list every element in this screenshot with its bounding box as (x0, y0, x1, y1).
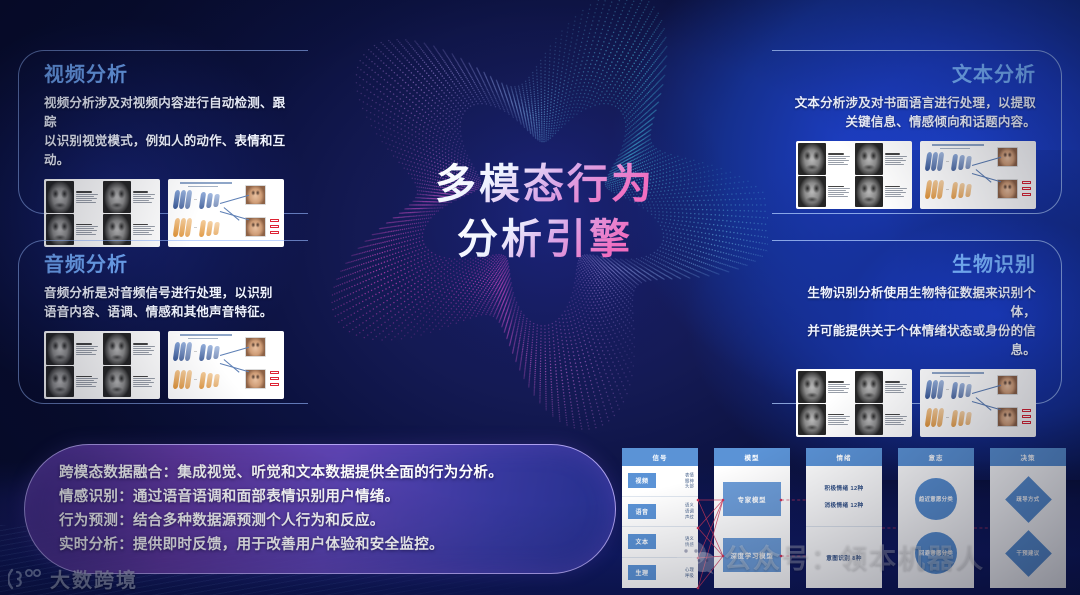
card-thumbnails: ...... (44, 179, 288, 247)
card-description-line1: 音频分析是对音频信号进行处理，以识别 (44, 284, 288, 303)
brand-logo[interactable]: 大数跨境 (8, 564, 138, 593)
card-description: 视频分析涉及对视频内容进行自动检测、跟踪 以识别视觉模式，例如人的动作、表情和互… (44, 94, 288, 170)
network-diagram-thumbnail[interactable]: ...... (168, 331, 284, 399)
card-description-line2: 关键信息、情感倾向和话题内容。 (792, 113, 1036, 132)
card-description-line1: 视频分析涉及对视频内容进行自动检测、跟踪 (44, 94, 288, 132)
card-description-line2: 并可能提供关于个体情绪状态或身份的信息。 (792, 322, 1036, 360)
summary-line: 情感识别：通过语音语调和面部表情识别用户情绪。 (59, 486, 585, 508)
card-description-line1: 生物识别分析使用生物特征数据来识别个体， (792, 284, 1036, 322)
card-thumbnails: ...... (792, 141, 1036, 209)
card-biometric-recognition[interactable]: 生物识别 生物识别分析使用生物特征数据来识别个体， 并可能提供关于个体情绪状态或… (772, 240, 1062, 404)
summary-line: 跨模态数据融合：集成视觉、听觉和文本数据提供全面的行为分析。 (59, 462, 585, 484)
card-description: 文本分析涉及对书面语言进行处理，以提取 关键信息、情感倾向和话题内容。 (792, 94, 1036, 132)
network-diagram-thumbnail[interactable]: ...... (168, 179, 284, 247)
pipeline-flowchart: 信号 视频 表情 眼神 头部 语音 语义 语调 声纹 (622, 448, 1068, 588)
face-grid-thumbnail[interactable] (796, 369, 912, 437)
center-title-line1: 多模态行为 (435, 161, 655, 207)
card-description-line2: 语音内容、语调、情感和其他声音特征。 (44, 303, 288, 322)
summary-line: 行为预测：结合多种数据源预测个人行为和反应。 (59, 510, 585, 532)
face-grid-thumbnail[interactable] (44, 179, 160, 247)
card-video-analysis[interactable]: 视频分析 视频分析涉及对视频内容进行自动检测、跟踪 以识别视觉模式，例如人的动作… (18, 50, 308, 214)
face-grid-thumbnail[interactable] (796, 141, 912, 209)
card-title: 视频分析 (44, 64, 288, 87)
card-thumbnails: ...... (44, 331, 288, 399)
card-audio-analysis[interactable]: 音频分析 音频分析是对音频信号进行处理，以识别 语音内容、语调、情感和其他声音特… (18, 240, 308, 404)
network-diagram-thumbnail[interactable]: ...... (920, 369, 1036, 437)
card-thumbnails: ...... (792, 369, 1036, 437)
card-title: 文本分析 (792, 64, 1036, 87)
brand-mark-icon (8, 567, 44, 591)
card-description: 生物识别分析使用生物特征数据来识别个体， 并可能提供关于个体情绪状态或身份的信息… (792, 284, 1036, 360)
card-description-line2: 以识别视觉模式，例如人的动作、表情和互动。 (44, 132, 288, 170)
card-title: 音频分析 (44, 254, 288, 277)
card-text-analysis[interactable]: 文本分析 文本分析涉及对书面语言进行处理，以提取 关键信息、情感倾向和话题内容。… (772, 50, 1062, 214)
center-title-line2: 分析引擎 (457, 216, 633, 262)
center-title-group: 多模态行为 分析引擎 (350, 150, 740, 270)
card-description-line1: 文本分析涉及对书面语言进行处理，以提取 (792, 94, 1036, 113)
poster-canvas: 多模态行为 分析引擎 视频分析 视频分析涉及对视频内容进行自动检测、跟踪 以识别… (0, 0, 1080, 595)
card-title: 生物识别 (792, 254, 1036, 277)
summary-line: 实时分析：提供即时反馈，用于改善用户体验和安全监控。 (59, 534, 585, 556)
flow-connectors (622, 448, 1068, 588)
brand-logo-text: 大数跨境 (50, 564, 138, 593)
card-description: 音频分析是对音频信号进行处理，以识别 语音内容、语调、情感和其他声音特征。 (44, 284, 288, 322)
network-diagram-thumbnail[interactable]: ...... (920, 141, 1036, 209)
face-grid-thumbnail[interactable] (44, 331, 160, 399)
summary-panel: 跨模态数据融合：集成视觉、听觉和文本数据提供全面的行为分析。 情感识别：通过语音… (24, 444, 616, 574)
